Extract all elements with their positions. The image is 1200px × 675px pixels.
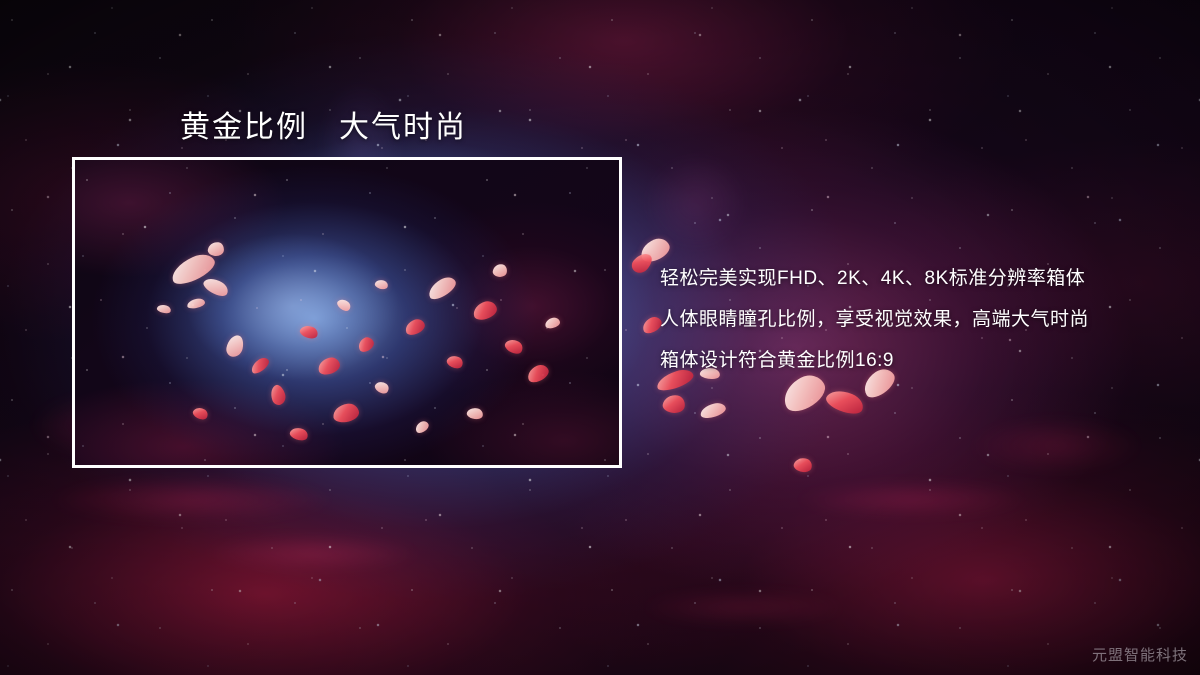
petal xyxy=(662,393,687,415)
preview-panel-frame xyxy=(72,157,622,468)
body-line: 轻松完美实现FHD、2K、4K、8K标准分辨率箱体 xyxy=(660,258,1160,299)
petal xyxy=(629,249,655,276)
petal xyxy=(824,386,867,419)
slide-canvas: 黄金比例 大气时尚 轻松完美实现FHD、2K、4K、8K标准分辨率箱体 人体眼睛… xyxy=(0,0,1200,675)
preview-panel-content xyxy=(75,160,619,465)
body-line: 人体眼睛瞳孔比例，享受视觉效果，高端大气时尚 xyxy=(660,299,1160,340)
petal xyxy=(792,456,813,474)
petal xyxy=(699,401,727,420)
page-title: 黄金比例 大气时尚 xyxy=(180,102,467,146)
body-line: 箱体设计符合黄金比例16:9 xyxy=(660,340,1160,381)
panel-nebula-image xyxy=(75,160,619,465)
body-text-block: 轻松完美实现FHD、2K、4K、8K标准分辨率箱体 人体眼睛瞳孔比例，享受视觉效… xyxy=(660,258,1160,381)
watermark: 元盟智能科技 xyxy=(1092,644,1188,665)
